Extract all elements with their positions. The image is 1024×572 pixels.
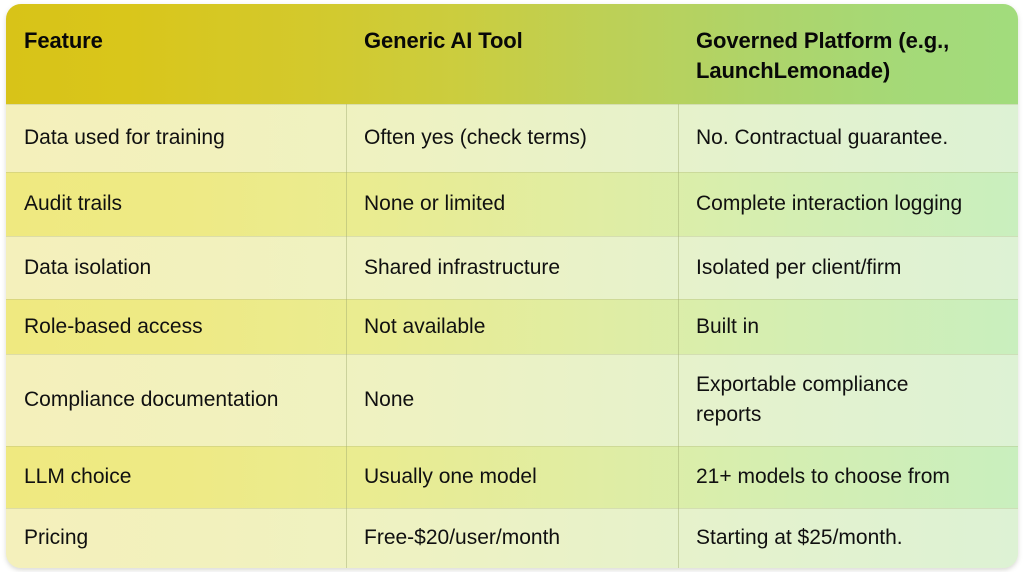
cell-generic: Free-$20/user/month xyxy=(346,508,678,568)
table-row: Compliance documentation None Exportable… xyxy=(6,354,1018,446)
cell-feature-text: Data used for training xyxy=(24,124,225,152)
cell-generic-text: Shared infrastructure xyxy=(364,254,560,282)
cell-feature: Role-based access xyxy=(6,299,346,354)
cell-feature: Data isolation xyxy=(6,236,346,299)
cell-governed-text: 21+ models to choose from xyxy=(696,463,950,491)
cell-feature-text: LLM choice xyxy=(24,463,131,491)
cell-feature: LLM choice xyxy=(6,446,346,508)
column-header-governed-platform-line1: Governed Platform (e.g., xyxy=(696,28,949,53)
column-header-governed-platform-line2: LaunchLemonade) xyxy=(696,58,890,83)
cell-governed: Isolated per client/firm xyxy=(678,236,1018,299)
cell-generic-text: Often yes (check terms) xyxy=(364,124,587,152)
table-row: Audit trails None or limited Complete in… xyxy=(6,172,1018,236)
table-container: Feature Generic AI Tool Governed Platfor… xyxy=(0,0,1024,572)
cell-feature: Audit trails xyxy=(6,172,346,236)
cell-feature-text: Pricing xyxy=(24,524,88,552)
cell-generic: Usually one model xyxy=(346,446,678,508)
cell-governed: 21+ models to choose from xyxy=(678,446,1018,508)
cell-feature: Compliance documentation xyxy=(6,354,346,446)
table-row: Data isolation Shared infrastructure Iso… xyxy=(6,236,1018,299)
cell-generic: Shared infrastructure xyxy=(346,236,678,299)
cell-generic-text: Free-$20/user/month xyxy=(364,524,560,552)
cell-generic-text: Usually one model xyxy=(364,463,537,491)
table-row: Data used for training Often yes (check … xyxy=(6,104,1018,172)
column-header-governed-platform: Governed Platform (e.g.,LaunchLemonade) xyxy=(678,4,1018,104)
cell-governed: Starting at $25/month. xyxy=(678,508,1018,568)
table-row: Role-based access Not available Built in xyxy=(6,299,1018,354)
cell-governed: Built in xyxy=(678,299,1018,354)
cell-governed-text: Built in xyxy=(696,313,759,341)
column-header-generic-ai-tool-label: Generic AI Tool xyxy=(364,26,523,56)
cell-generic-text: None or limited xyxy=(364,190,505,218)
table-row: Pricing Free-$20/user/month Starting at … xyxy=(6,508,1018,568)
cell-governed: No. Contractual guarantee. xyxy=(678,104,1018,172)
column-header-feature: Feature xyxy=(6,4,346,104)
cell-governed-text: No. Contractual guarantee. xyxy=(696,124,948,152)
cell-feature-text: Data isolation xyxy=(24,254,151,282)
comparison-table: Feature Generic AI Tool Governed Platfor… xyxy=(6,4,1018,568)
cell-generic: None or limited xyxy=(346,172,678,236)
table-row: LLM choice Usually one model 21+ models … xyxy=(6,446,1018,508)
cell-feature: Pricing xyxy=(6,508,346,568)
cell-feature-text: Role-based access xyxy=(24,313,203,341)
cell-governed-text: Starting at $25/month. xyxy=(696,524,903,552)
table-header-row: Feature Generic AI Tool Governed Platfor… xyxy=(6,4,1018,104)
cell-generic: Often yes (check terms) xyxy=(346,104,678,172)
cell-generic-text: Not available xyxy=(364,313,485,341)
cell-feature-text: Compliance documentation xyxy=(24,385,278,415)
cell-governed: Complete interaction logging xyxy=(678,172,1018,236)
cell-governed-line2: reports xyxy=(696,403,761,426)
cell-governed-line1: Exportable compliance xyxy=(696,373,908,396)
column-header-generic-ai-tool: Generic AI Tool xyxy=(346,4,678,104)
cell-governed-text: Complete interaction logging xyxy=(696,190,962,218)
column-header-governed-platform-label: Governed Platform (e.g.,LaunchLemonade) xyxy=(696,26,949,86)
cell-feature-text: Audit trails xyxy=(24,190,122,218)
cell-generic: None xyxy=(346,354,678,446)
cell-governed-text: Exportable compliancereports xyxy=(696,370,908,430)
cell-governed: Exportable compliancereports xyxy=(678,354,1018,446)
column-header-feature-label: Feature xyxy=(24,26,103,56)
cell-generic: Not available xyxy=(346,299,678,354)
cell-feature: Data used for training xyxy=(6,104,346,172)
cell-generic-text: None xyxy=(364,385,414,415)
cell-governed-text: Isolated per client/firm xyxy=(696,254,901,282)
